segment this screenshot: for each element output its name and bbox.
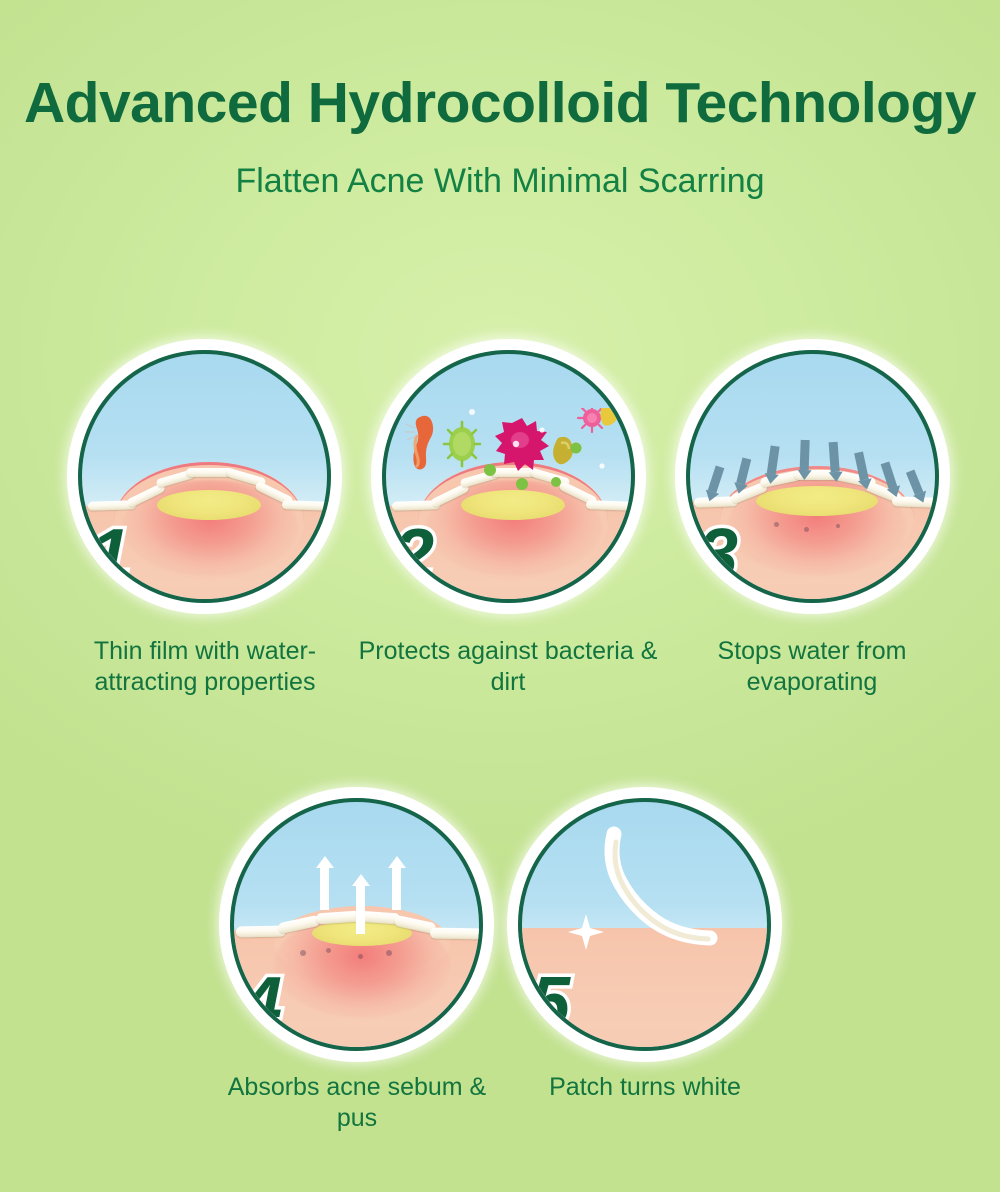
water-block-arrow-down-icon (797, 440, 811, 480)
pore-dot (774, 522, 779, 527)
step-number-2: 2 (394, 519, 434, 591)
pore-dot (386, 950, 392, 956)
page-subtitle: Flatten Acne With Minimal Scarring (0, 134, 1000, 201)
pus-pocket (157, 490, 261, 520)
sebum-absorb-arrow-up-icon (316, 856, 332, 910)
patch-film-right (586, 500, 635, 511)
step-2-illustration: 2 (382, 350, 635, 603)
water-block-arrow-down-icon (827, 442, 843, 483)
step-3-caption: Stops water from evaporating (662, 636, 962, 698)
infographic-page: Advanced Hydrocolloid Technology Flatten… (0, 0, 1000, 1192)
green-spiky-oval-germ-icon (444, 422, 480, 466)
step-number-3: 3 (698, 519, 738, 591)
header: Advanced Hydrocolloid Technology Flatten… (0, 0, 1000, 201)
pore-dot (836, 524, 840, 528)
step-1-caption: Thin film with water-attracting properti… (55, 636, 355, 698)
pore-dot (804, 527, 809, 532)
pore-dot (300, 950, 306, 956)
step-4-caption: Absorbs acne sebum & pus (207, 1072, 507, 1134)
patch-film-right (282, 500, 331, 511)
step-5-illustration: 5 (518, 798, 771, 1051)
peeling-patch-icon (612, 834, 710, 938)
pore-dot (358, 954, 363, 959)
sparkle-icon (568, 914, 604, 950)
patch-film-right (430, 928, 483, 940)
step-1-illustration: 1 (78, 350, 331, 603)
step-number-5: 5 (530, 967, 570, 1039)
step-5-caption: Patch turns white (495, 1072, 795, 1103)
step-number-1: 1 (90, 519, 130, 591)
yellow-bean-bacterium-icon (601, 408, 620, 426)
orange-rod-bacterium-icon (405, 416, 433, 470)
magenta-spiky-virus-icon (495, 418, 549, 471)
step-4-illustration: 4 (230, 798, 483, 1051)
germ-cluster (404, 408, 624, 498)
page-title: Advanced Hydrocolloid Technology (0, 0, 1000, 134)
pore-dot (326, 948, 331, 953)
sebum-absorb-arrow-up-icon (388, 856, 404, 910)
step-3-illustration: 3 (686, 350, 939, 603)
step-number-4: 4 (242, 967, 282, 1039)
olive-bean-bacterium-icon (553, 437, 573, 464)
sebum-absorb-arrow-up-icon (352, 874, 368, 934)
step-2-caption: Protects against bacteria & dirt (358, 636, 658, 698)
